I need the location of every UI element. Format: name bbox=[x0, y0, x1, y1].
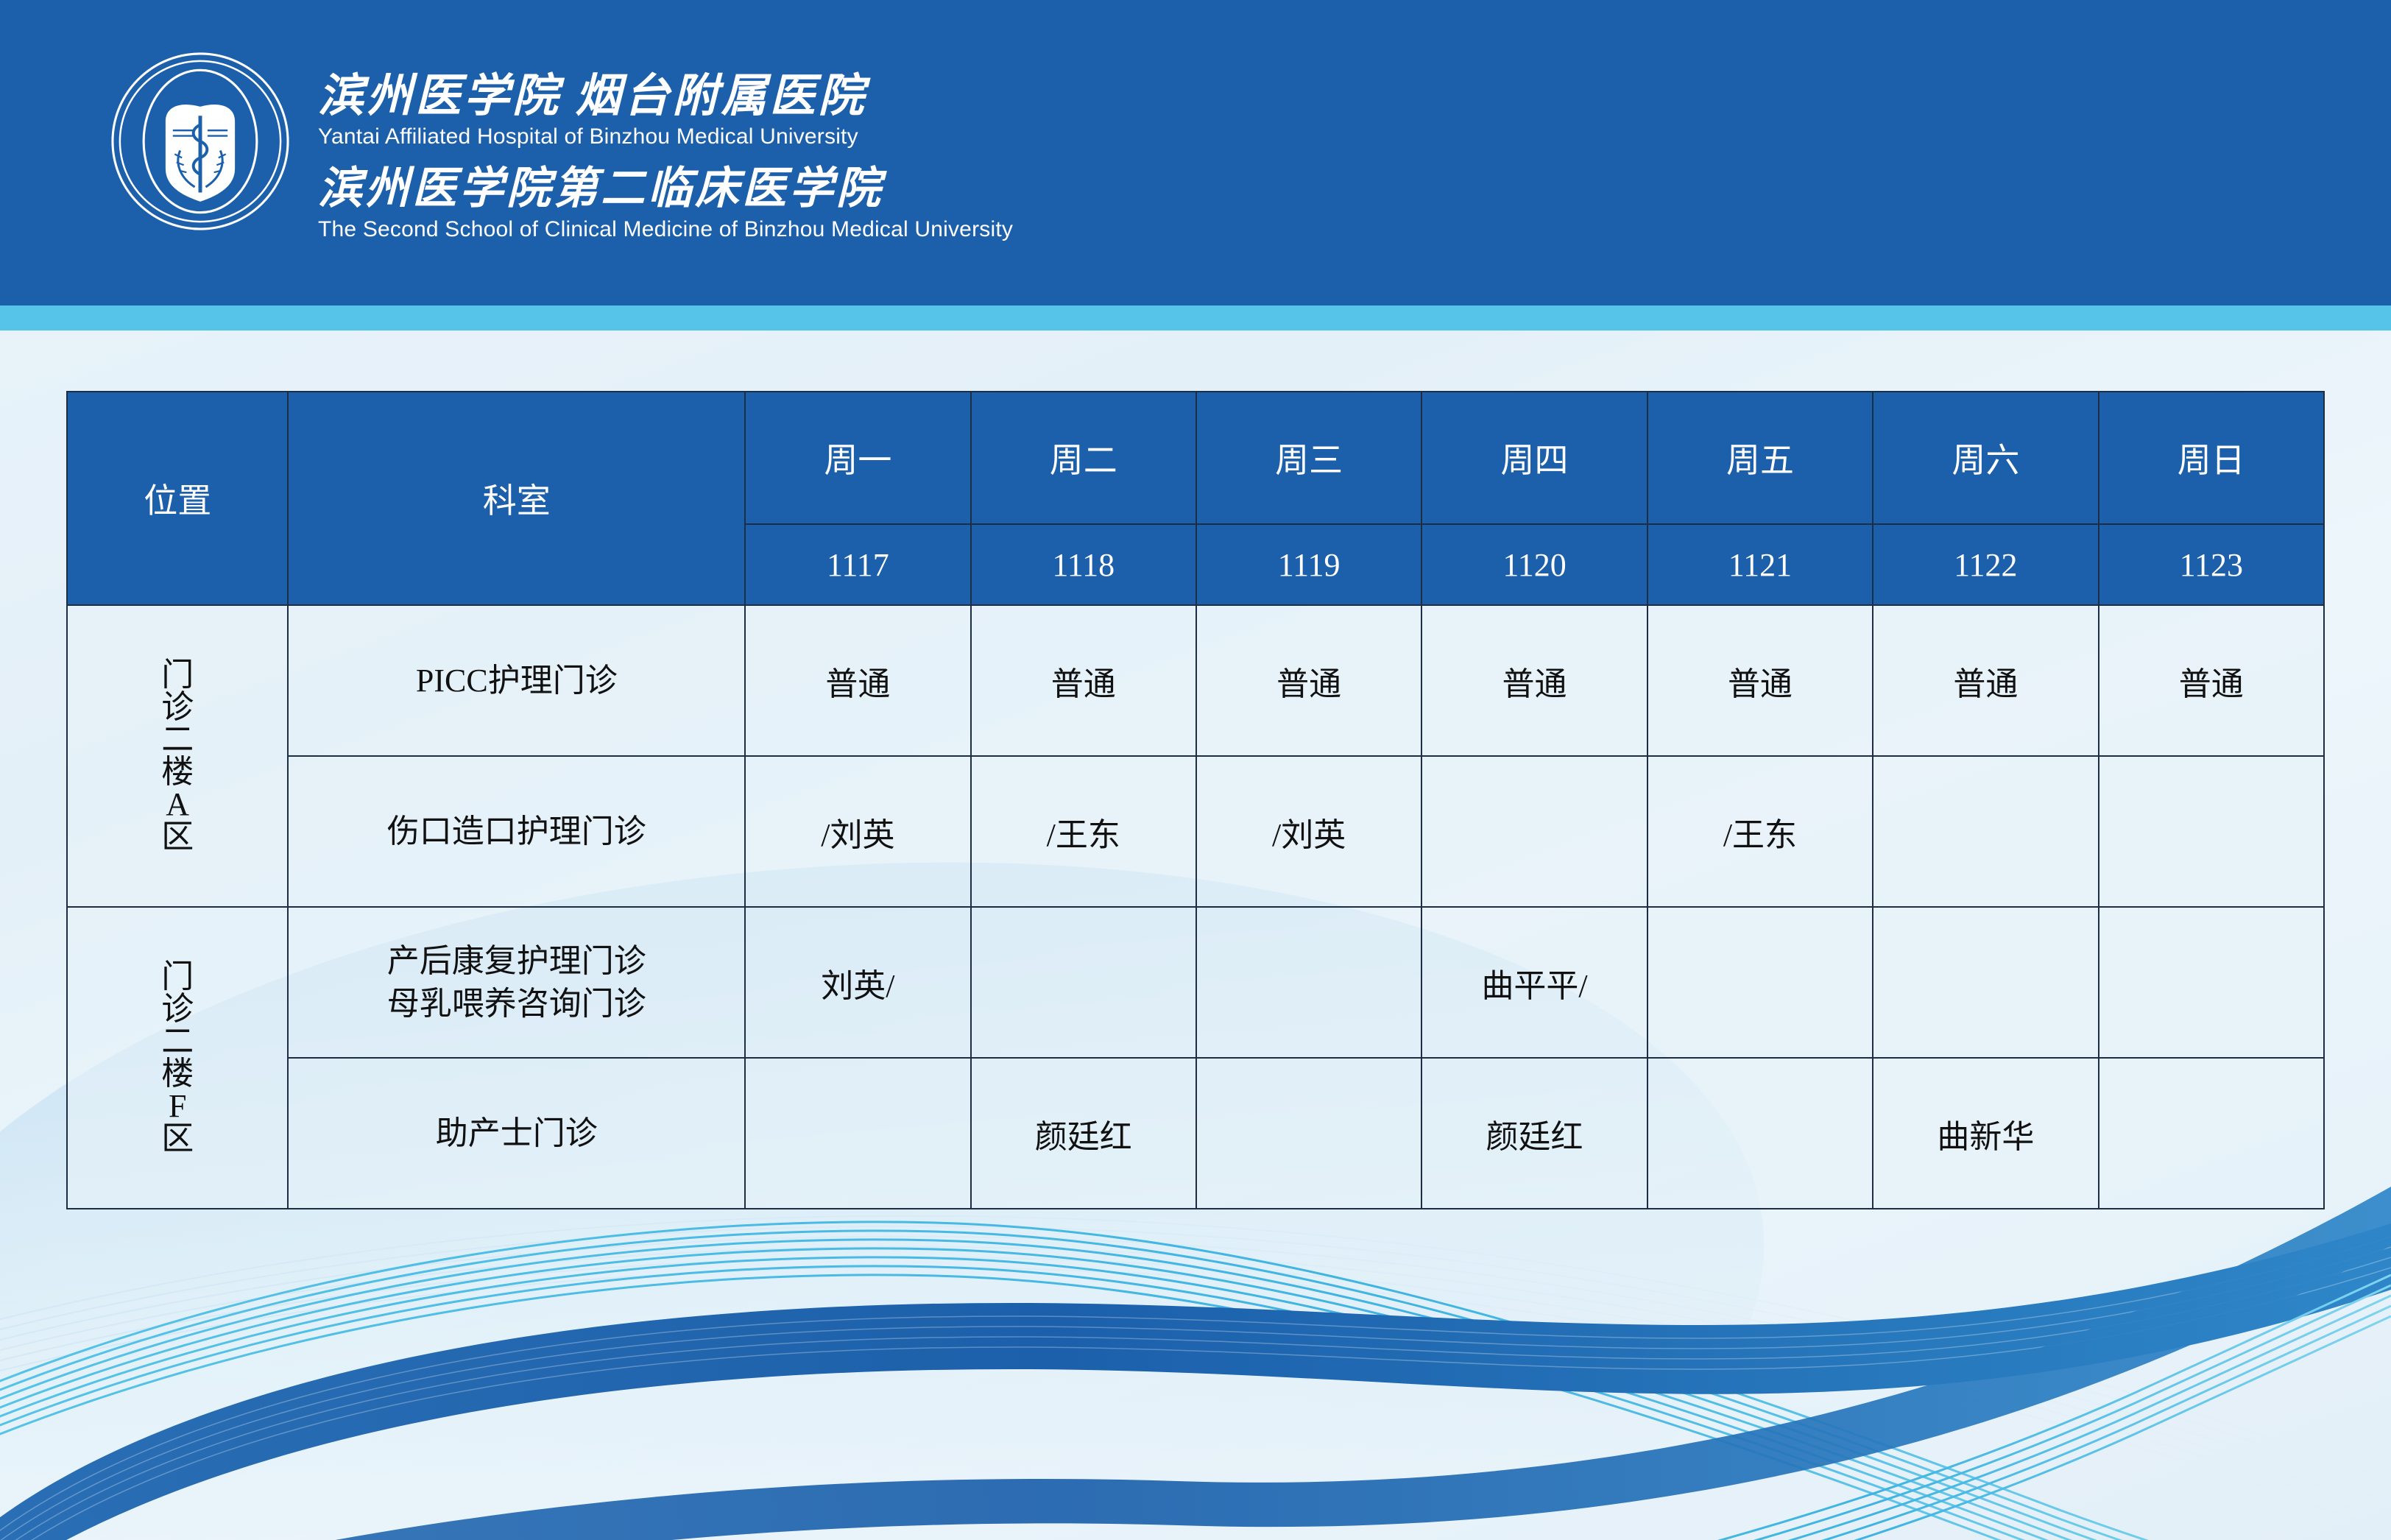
header-date-monday: 1117 bbox=[745, 524, 970, 605]
department-cell: PICC护理门诊 bbox=[288, 605, 745, 756]
slot-cell: 曲新华 bbox=[1873, 1058, 2098, 1209]
table-row: 助产士门诊 颜廷红 颜廷红 曲新华 bbox=[67, 1058, 2324, 1209]
brand-title-block: 滨州医学院 烟台附属医院 Yantai Affiliated Hospital … bbox=[318, 71, 1275, 243]
location-cell-f-zone: 门 诊 二 楼 F 区 bbox=[67, 907, 288, 1209]
slot-cell: 颜廷红 bbox=[1421, 1058, 1647, 1209]
slot-cell: 普通 bbox=[745, 605, 970, 756]
location-char: 二 bbox=[161, 724, 194, 756]
slot-cell: /刘英 bbox=[1196, 756, 1421, 907]
location-char: 门 bbox=[161, 961, 194, 993]
location-char: 二 bbox=[161, 1025, 194, 1058]
header-day-monday: 周一 bbox=[745, 392, 970, 524]
slot-cell: 颜廷红 bbox=[971, 1058, 1196, 1209]
slot-cell: /王东 bbox=[1647, 756, 1873, 907]
slot-cell bbox=[2099, 1058, 2324, 1209]
brand-title-cn-secondary: 滨州医学院第二临床医学院 bbox=[318, 163, 1275, 213]
slot-cell bbox=[2099, 756, 2324, 907]
slot-cell: 普通 bbox=[1647, 605, 1873, 756]
location-char: 楼 bbox=[161, 1058, 194, 1090]
header-date-thursday: 1120 bbox=[1421, 524, 1647, 605]
hospital-emblem-icon bbox=[109, 50, 292, 233]
location-char: A bbox=[166, 788, 189, 821]
slot-cell bbox=[1873, 756, 2098, 907]
slot-cell bbox=[971, 907, 1196, 1058]
header-position: 位置 bbox=[67, 392, 288, 605]
slot-cell: 普通 bbox=[971, 605, 1196, 756]
slot-cell: /王东 bbox=[971, 756, 1196, 907]
slot-cell: 普通 bbox=[1873, 605, 2098, 756]
header-date-friday: 1121 bbox=[1647, 524, 1873, 605]
header-department: 科室 bbox=[288, 392, 745, 605]
location-char: 诊 bbox=[161, 691, 194, 724]
department-line: 母乳喂养咨询门诊 bbox=[289, 983, 744, 1025]
slot-cell: 刘英/ bbox=[745, 907, 970, 1058]
brand-title-cn-primary: 滨州医学院 烟台附属医院 bbox=[318, 71, 1275, 122]
slot-cell bbox=[1421, 756, 1647, 907]
department-cell: 伤口造口护理门诊 bbox=[288, 756, 745, 907]
slot-cell bbox=[2099, 907, 2324, 1058]
schedule-table-head: 位置 科室 周一 周二 周三 周四 周五 周六 周日 1117 1118 111… bbox=[67, 392, 2324, 605]
location-char: 区 bbox=[161, 1123, 194, 1155]
poster-page: 滨州医学院 烟台附属医院 Yantai Affiliated Hospital … bbox=[0, 0, 2391, 1540]
slot-cell: 普通 bbox=[1196, 605, 1421, 756]
header-day-thursday: 周四 bbox=[1421, 392, 1647, 524]
slot-cell: /刘英 bbox=[745, 756, 970, 907]
schedule-table: 位置 科室 周一 周二 周三 周四 周五 周六 周日 1117 1118 111… bbox=[66, 391, 2325, 1209]
header-date-tuesday: 1118 bbox=[971, 524, 1196, 605]
table-row: 门 诊 二 楼 A 区 PICC护理门诊 普通 普通 普通 普通 普通 bbox=[67, 605, 2324, 756]
slot-cell bbox=[1196, 907, 1421, 1058]
department-cell: 助产士门诊 bbox=[288, 1058, 745, 1209]
header-accent-stripe bbox=[0, 305, 2391, 331]
header-day-saturday: 周六 bbox=[1873, 392, 2098, 524]
header-day-sunday: 周日 bbox=[2099, 392, 2324, 524]
header-date-wednesday: 1119 bbox=[1196, 524, 1421, 605]
slot-cell: 曲平平/ bbox=[1421, 907, 1647, 1058]
location-char: 楼 bbox=[161, 756, 194, 788]
location-char: 门 bbox=[161, 659, 194, 691]
location-vertical-text: 门 诊 二 楼 A 区 bbox=[68, 659, 287, 853]
table-row: 伤口造口护理门诊 /刘英 /王东 /刘英 /王东 bbox=[67, 756, 2324, 907]
department-line: 产后康复护理门诊 bbox=[289, 940, 744, 982]
slot-cell bbox=[1647, 907, 1873, 1058]
brand-title-en-secondary: The Second School of Clinical Medicine o… bbox=[318, 216, 1275, 243]
header-row-daynames: 位置 科室 周一 周二 周三 周四 周五 周六 周日 bbox=[67, 392, 2324, 524]
brand-title-en-primary: Yantai Affiliated Hospital of Binzhou Me… bbox=[318, 124, 1275, 150]
slot-cell bbox=[1647, 1058, 1873, 1209]
header-date-saturday: 1122 bbox=[1873, 524, 2098, 605]
slot-cell bbox=[1873, 907, 2098, 1058]
schedule-table-body: 门 诊 二 楼 A 区 PICC护理门诊 普通 普通 普通 普通 普通 bbox=[67, 605, 2324, 1209]
table-row: 门 诊 二 楼 F 区 产后康复护理门诊 母乳喂养咨询门诊 刘英/ bbox=[67, 907, 2324, 1058]
location-char: 区 bbox=[161, 821, 194, 853]
header-date-sunday: 1123 bbox=[2099, 524, 2324, 605]
location-char: 诊 bbox=[161, 993, 194, 1025]
location-cell-a-zone: 门 诊 二 楼 A 区 bbox=[67, 605, 288, 907]
header-day-tuesday: 周二 bbox=[971, 392, 1196, 524]
location-char: F bbox=[169, 1090, 186, 1123]
location-vertical-text: 门 诊 二 楼 F 区 bbox=[68, 961, 287, 1155]
schedule-table-container: 位置 科室 周一 周二 周三 周四 周五 周六 周日 1117 1118 111… bbox=[66, 391, 2325, 1209]
department-cell: 产后康复护理门诊 母乳喂养咨询门诊 bbox=[288, 907, 745, 1058]
header-day-friday: 周五 bbox=[1647, 392, 1873, 524]
slot-cell bbox=[1196, 1058, 1421, 1209]
slot-cell: 普通 bbox=[1421, 605, 1647, 756]
header-day-wednesday: 周三 bbox=[1196, 392, 1421, 524]
slot-cell: 普通 bbox=[2099, 605, 2324, 756]
slot-cell bbox=[745, 1058, 970, 1209]
